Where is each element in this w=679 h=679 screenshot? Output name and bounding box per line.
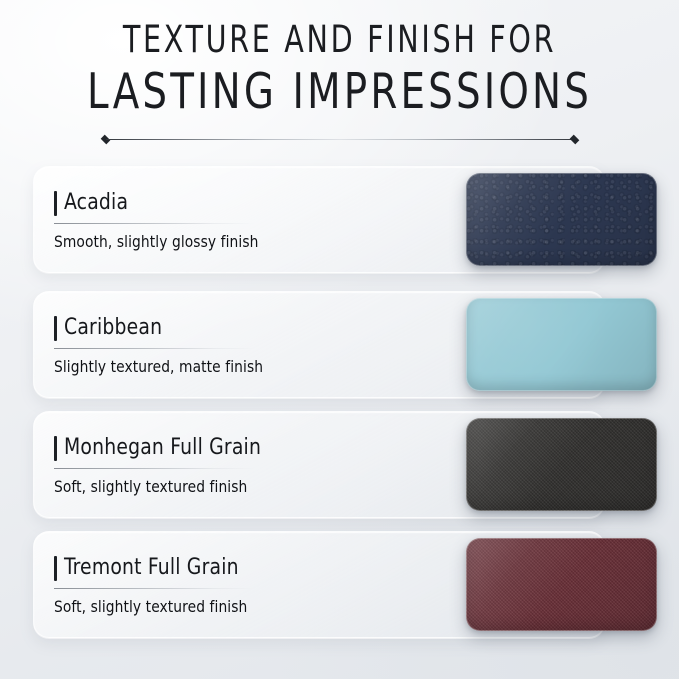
list-item: Acadia Smooth, slightly glossy finish (33, 166, 603, 271)
swatch-edge (466, 298, 657, 391)
accent-bar-icon (54, 316, 57, 341)
infographic-poster: TEXTURE AND FINISH FOR LASTING IMPRESSIO… (0, 0, 679, 679)
color-swatch-acadia (466, 173, 657, 266)
list-item: Tremont Full Grain Soft, slightly textur… (33, 531, 603, 636)
swatch-list: Acadia Smooth, slightly glossy finish Ca… (0, 0, 679, 679)
item-description: Smooth, slightly glossy finish (54, 230, 258, 254)
accent-bar-icon (54, 436, 57, 461)
accent-bar-icon (54, 556, 57, 581)
swatch-edge (466, 173, 657, 266)
swatch-edge (466, 538, 657, 631)
accent-bar-icon (54, 191, 57, 216)
list-item: Monhegan Full Grain Soft, slightly textu… (33, 411, 603, 516)
item-description: Soft, slightly textured finish (54, 475, 247, 499)
title-underline (54, 588, 254, 589)
item-title: Monhegan Full Grain (64, 433, 261, 463)
title-underline (54, 468, 254, 469)
color-swatch-caribbean (466, 298, 657, 391)
color-swatch-monhegan-full-grain (466, 418, 657, 511)
item-description: Soft, slightly textured finish (54, 595, 247, 619)
title-underline (54, 348, 254, 349)
item-title: Tremont Full Grain (64, 553, 239, 583)
swatch-edge (466, 418, 657, 511)
color-swatch-tremont-full-grain (466, 538, 657, 631)
item-title: Caribbean (64, 313, 162, 343)
list-item: Caribbean Slightly textured, matte finis… (33, 291, 603, 396)
item-title: Acadia (64, 188, 128, 218)
title-underline (54, 223, 254, 224)
item-description: Slightly textured, matte finish (54, 355, 263, 379)
